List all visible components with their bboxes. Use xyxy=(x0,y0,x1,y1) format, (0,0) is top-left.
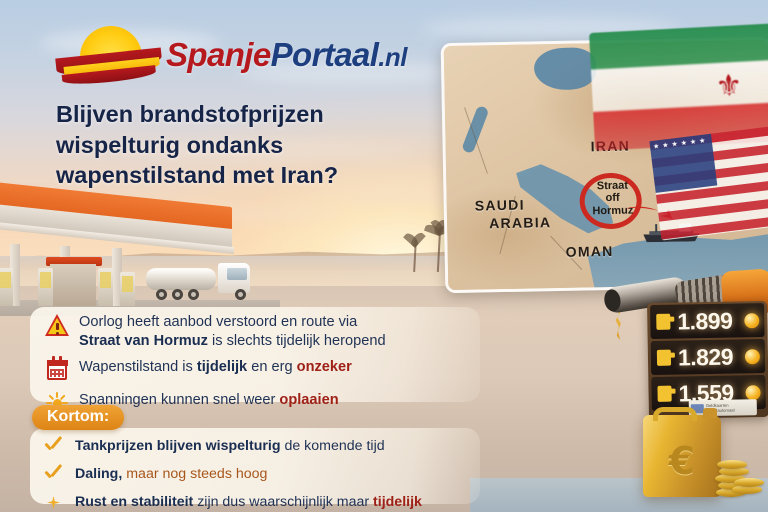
usa-flag-icon: ★★★★★★★★★★★★★★★★★★★★★★★★★★★★★★★★★★★★ xyxy=(649,125,768,240)
headline-line-2: wispelturig ondanks xyxy=(56,130,416,161)
usa-flag-stars: ★★★★★★★★★★★★★★★★★★★★★★★★★★★★★★★★★★★★ xyxy=(653,137,714,189)
list-item-text: Oorlog heeft aanbod verstoord en route v… xyxy=(79,312,386,350)
bullet-2-strong: tijdelijk xyxy=(197,359,247,375)
iran-emblem-icon: ⚜ xyxy=(709,71,749,103)
bullet-3-strong: oplaaien xyxy=(279,392,338,408)
list-item: Rust en stabiliteit zijn dus waarschijnl… xyxy=(40,489,480,512)
price-value: 1.899 xyxy=(677,307,744,335)
headline-line-3: wapenstilstand met Iran? xyxy=(56,160,416,191)
summary-3-strong: Rust en stabiliteit xyxy=(75,494,193,510)
jerrycan-icon xyxy=(656,314,670,330)
payment-sticker: Geldkaarten betaalautomaat xyxy=(689,399,757,416)
bullet-2-prefix: Wapenstilstand is xyxy=(79,359,197,375)
fuel-pump xyxy=(98,268,113,306)
truck-cab xyxy=(218,263,250,293)
bullet-1-suffix: is slechts tijdelijk heropend xyxy=(208,333,386,349)
tanker-truck xyxy=(146,256,250,302)
spanje-sun-logo-icon xyxy=(56,26,162,86)
map-label-saudi-arabia: SAUDI ARABIA xyxy=(475,196,552,233)
jerrycan-handle xyxy=(653,407,697,421)
map-label-oman: OMAN xyxy=(566,243,614,260)
sparkle-icon xyxy=(40,489,66,512)
list-item-text: Wapenstilstand is tijdelijk en erg onzek… xyxy=(79,357,352,377)
bullet-1-prefix: Oorlog heeft aanbod verstoord en route v… xyxy=(79,314,357,330)
map-label-saudi-line2: ARABIA xyxy=(489,214,552,233)
fuel-price-board: 1.899 1.829 1.559 Geldkaarten betaalauto… xyxy=(647,301,768,419)
station-shop xyxy=(50,264,96,306)
golden-jerrycan-euro-icon: € xyxy=(643,415,721,497)
list-item: Oorlog heeft aanbod verstoord en route v… xyxy=(44,312,480,350)
map-caspian-sea xyxy=(534,47,597,90)
summary-2-strong: Daling, xyxy=(75,466,122,482)
hormuz-line-1: Straat xyxy=(585,179,639,192)
price-row: 1.829 xyxy=(651,339,766,375)
summary-3-strong2: tijdelijk xyxy=(373,494,422,510)
price-value: 1.829 xyxy=(678,343,745,371)
jerrycan-icon xyxy=(657,350,671,366)
palm-tree xyxy=(408,240,422,272)
bullet-1-strong: Straat van Hormuz xyxy=(79,333,208,349)
check-icon xyxy=(40,433,66,459)
indicator-lamp-icon xyxy=(744,313,759,328)
fuel-pump xyxy=(0,268,13,306)
page-title: Blijven brandstofprijzen wispelturig ond… xyxy=(56,99,416,191)
gas-station-photo xyxy=(0,186,244,310)
list-item-text: Tankprijzen blijven wispelturig de komen… xyxy=(75,436,385,455)
summary-1-suffix: de komende tijd xyxy=(281,438,385,454)
list-item: Wapenstilstand is tijdelijk en erg onzek… xyxy=(44,357,480,383)
summary-1-strong: Tankprijzen blijven wispelturig xyxy=(75,438,281,454)
map-label-saudi-line1: SAUDI xyxy=(475,196,552,215)
logo-text-tld: .nl xyxy=(378,42,407,72)
check-icon xyxy=(40,461,66,487)
warning-triangle-icon xyxy=(44,312,70,338)
price-row: 1.899 xyxy=(650,303,765,339)
usa-flag-canton: ★★★★★★★★★★★★★★★★★★★★★★★★★★★★★★★★★★★★ xyxy=(649,134,717,193)
logo-wordmark: SpanjePortaal.nl xyxy=(166,36,407,74)
list-item-text: Rust en stabiliteit zijn dus waarschijnl… xyxy=(75,492,422,511)
infographic-canvas: SpanjePortaal.nl Blijven brandstofprijze… xyxy=(0,0,768,512)
summary-list: Tankprijzen blijven wispelturig de komen… xyxy=(40,433,480,512)
indicator-lamp-icon xyxy=(745,349,760,364)
bullet-2-mid: en erg xyxy=(247,359,297,375)
list-item: Daling, maar nog steeds hoog xyxy=(40,461,480,487)
fuel-pump xyxy=(120,272,135,306)
status-badge: Kortom: xyxy=(32,405,124,430)
bullet-2-strong2: onzeker xyxy=(297,359,352,375)
jerrycan-icon xyxy=(657,386,671,402)
list-item: Tankprijzen blijven wispelturig de komen… xyxy=(40,433,480,459)
calendar-icon xyxy=(44,357,70,383)
euro-symbol-icon: € xyxy=(643,439,721,483)
truck-tank xyxy=(146,268,216,290)
fuel-pump xyxy=(38,268,53,306)
gold-coins-icon xyxy=(714,452,764,498)
logo-text-portaal: Portaal xyxy=(271,36,379,73)
list-item-text: Daling, maar nog steeds hoog xyxy=(75,464,267,483)
summary-3-mid: zijn dus waarschijnlijk maar xyxy=(193,494,373,510)
headline-line-1: Blijven brandstofprijzen xyxy=(56,99,416,130)
logo-text-spanje: Spanje xyxy=(166,36,271,73)
jerrycan-cap xyxy=(703,408,717,418)
hormuz-line-2: off xyxy=(586,192,640,205)
indicator-lamp-icon xyxy=(745,385,760,400)
summary-2-suffix: maar nog steeds hoog xyxy=(122,466,267,482)
